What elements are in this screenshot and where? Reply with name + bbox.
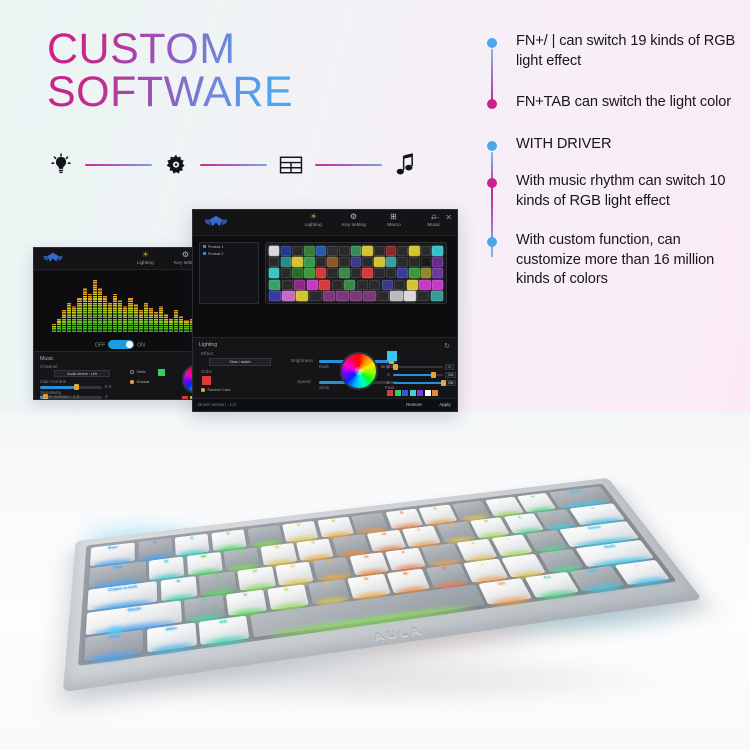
random-color-option[interactable]: Random Color xyxy=(201,388,231,392)
preview-key[interactable] xyxy=(374,257,384,267)
preview-key[interactable] xyxy=(350,291,362,301)
eq-bar xyxy=(139,310,143,332)
eq-bar xyxy=(159,306,163,332)
preview-key[interactable] xyxy=(281,257,291,267)
keycap-legend: - xyxy=(499,499,502,502)
bullet-text: FN+TAB can switch the light color xyxy=(516,94,731,110)
keycap-legend: J xyxy=(401,551,405,555)
eq-bar xyxy=(62,310,66,332)
eq-bar xyxy=(67,302,71,332)
restore-button[interactable]: Restore xyxy=(407,402,423,407)
keycap[interactable]: U xyxy=(367,530,405,552)
preview-key-row xyxy=(269,291,443,301)
eq-bar xyxy=(77,298,81,332)
keycap[interactable]: 1 xyxy=(138,538,172,560)
keycap[interactable]: L xyxy=(457,539,498,561)
driver-apply-bar: Driver version : 1.0 Restore Apply xyxy=(193,398,457,411)
music-mode-toggle-row[interactable]: OFF ON xyxy=(96,340,144,349)
gain-slider[interactable] xyxy=(40,386,102,389)
rgb-slider[interactable] xyxy=(393,366,443,369)
keycap-legend: ] xyxy=(551,512,555,515)
keycap-legend: 3 xyxy=(226,532,229,536)
driver-window-titlebar: ☀ Lighting ⚙ Key setting ⊞ Macro ♫ Music… xyxy=(193,210,457,236)
driver-action-buttons[interactable]: Restore Apply xyxy=(407,402,451,407)
sensitivity-value: 3 xyxy=(105,394,108,399)
effect-label: Effect xyxy=(201,351,213,356)
keycap-legend: N xyxy=(403,572,408,576)
keycap[interactable]: H xyxy=(349,552,389,575)
preview-key[interactable] xyxy=(374,268,384,278)
keycap-legend: K xyxy=(436,546,441,550)
preview-key[interactable] xyxy=(339,257,349,267)
keycap[interactable]: P xyxy=(470,517,510,538)
keycap[interactable]: I xyxy=(402,526,441,547)
current-color-swatch[interactable] xyxy=(202,376,211,385)
keycap[interactable]: 4 xyxy=(247,525,283,546)
keycap-legend: 8 xyxy=(400,511,404,514)
keycap[interactable]: G xyxy=(313,557,352,580)
keycap[interactable]: T xyxy=(296,539,334,561)
color-swatch[interactable] xyxy=(417,390,423,396)
bullet-dot-blue xyxy=(487,38,497,48)
keycap[interactable]: X xyxy=(226,590,267,616)
keycap-legend: D xyxy=(253,570,258,574)
keycap-legend: Tab xyxy=(113,565,123,570)
preview-key[interactable] xyxy=(409,246,419,256)
eq-bar xyxy=(113,294,117,332)
preview-key[interactable] xyxy=(421,268,431,278)
keycap[interactable]: V xyxy=(308,579,350,604)
keycap[interactable]: B xyxy=(348,574,391,599)
preview-key[interactable] xyxy=(309,291,321,301)
preview-key[interactable] xyxy=(421,257,431,267)
preview-key[interactable] xyxy=(332,280,343,290)
keycap-legend: L xyxy=(471,542,476,546)
keycap[interactable]: Ctrl xyxy=(570,566,625,591)
keycap-rgb-halo xyxy=(87,650,139,664)
preview-key[interactable] xyxy=(281,268,291,278)
keycap-legend: W xyxy=(201,555,207,559)
radio-gradual[interactable]: Gradual xyxy=(130,380,149,384)
device-label: Product 1 xyxy=(208,245,223,249)
bullet-text: With custom function, can customize more… xyxy=(516,232,714,287)
nav-label: Lighting xyxy=(137,260,154,267)
lightbulb-icon xyxy=(46,150,76,180)
keycap-legend: 7 xyxy=(366,515,370,518)
nav-key-setting[interactable]: ⚙ Key setting xyxy=(340,212,367,227)
keycap-rgb-halo xyxy=(629,576,670,587)
preview-key[interactable] xyxy=(362,268,372,278)
nav-lighting[interactable]: ☀ Lighting xyxy=(132,250,159,265)
preview-key[interactable] xyxy=(294,280,305,290)
keycap-legend: Z xyxy=(202,599,206,603)
random-color-label: Random Color xyxy=(208,388,231,392)
gain-label: Gain Control xyxy=(40,379,66,384)
preview-key[interactable] xyxy=(419,280,430,290)
preview-key[interactable] xyxy=(344,280,355,290)
keycap-legend: 5 xyxy=(297,524,301,528)
bullet-dot-pink xyxy=(487,99,497,109)
preview-key-row xyxy=(269,257,443,267)
nav-label: Macro xyxy=(387,222,401,229)
device-icon xyxy=(203,252,206,255)
preview-key[interactable] xyxy=(316,257,326,267)
color-swatch[interactable] xyxy=(387,390,393,396)
bullet-dot-blue xyxy=(487,141,497,151)
keycap[interactable]: F xyxy=(275,562,314,586)
preview-key[interactable] xyxy=(394,280,405,290)
preview-key[interactable] xyxy=(421,246,431,256)
preview-key[interactable] xyxy=(292,268,302,278)
music-version-label: Driver version : 1.0 xyxy=(40,394,79,399)
preview-key[interactable] xyxy=(386,257,396,267)
keycap[interactable]: S xyxy=(199,571,237,595)
eq-bar xyxy=(83,288,87,332)
preview-key[interactable] xyxy=(269,280,280,290)
music-note-icon xyxy=(391,150,421,180)
preview-key[interactable] xyxy=(327,257,337,267)
nav-macro[interactable]: ⊞ Macro xyxy=(380,212,407,227)
keycap-legend: O xyxy=(450,524,455,528)
keycap-legend: F xyxy=(291,565,295,569)
preview-key[interactable] xyxy=(319,280,330,290)
rgb-channel-label: R xyxy=(387,365,391,369)
keycap-legend: A xyxy=(176,579,180,583)
radio-static[interactable]: Static xyxy=(130,370,146,374)
speed-label: Speed xyxy=(297,379,311,384)
effect-select[interactable]: Stars / switch xyxy=(209,358,271,366)
eq-bar xyxy=(108,302,112,332)
preview-key[interactable] xyxy=(269,268,279,278)
eq-bar xyxy=(88,294,92,332)
preview-key[interactable] xyxy=(269,291,281,301)
keycap[interactable]: Win xyxy=(147,623,197,653)
keyboard-side-light xyxy=(108,626,122,635)
keycap[interactable]: Fn xyxy=(525,572,579,598)
device-item[interactable]: Product 1 xyxy=(200,243,258,250)
keyboard-product-photo: Esc1234567890-=BackTabQWERTYUIOP[]\Caps … xyxy=(62,430,687,705)
keycap[interactable]: A xyxy=(160,576,197,601)
eq-bar xyxy=(72,306,76,332)
gain-value: 5.0 xyxy=(105,384,112,389)
keycap-legend: Shift xyxy=(128,607,141,613)
preview-key[interactable] xyxy=(409,268,419,278)
bullet-text: FN+/ | can switch 19 kinds of RGB light … xyxy=(516,33,735,69)
keycap-legend: Shift xyxy=(603,545,616,550)
preview-key[interactable] xyxy=(362,246,372,256)
eq-bar xyxy=(52,324,56,332)
keycap-rgb-halo xyxy=(583,583,624,594)
key-setting-icon: ⚙ xyxy=(350,212,357,221)
driver-window-controls[interactable]: — ✕ xyxy=(431,214,452,222)
keycap[interactable]: Alt xyxy=(479,578,533,604)
preview-key[interactable] xyxy=(304,268,314,278)
channel-select[interactable]: Audio device : Left xyxy=(54,370,110,377)
connector-line-1 xyxy=(85,164,152,166)
keycap[interactable]: 7 xyxy=(351,513,388,533)
nav-lighting[interactable]: ☀ Lighting xyxy=(300,212,327,227)
lighting-icon: ☀ xyxy=(310,212,317,221)
keycap[interactable]: 6 xyxy=(317,517,354,538)
keycap-legend: I xyxy=(417,528,420,531)
preview-key-row xyxy=(269,246,443,256)
preview-key[interactable] xyxy=(351,246,361,256)
preview-key[interactable] xyxy=(281,246,291,256)
keycap-rgb-halo xyxy=(537,589,578,600)
keycap-legend: T xyxy=(311,541,315,545)
bullet-dot-blue xyxy=(487,237,497,247)
keycap-legend: Enter xyxy=(588,526,603,531)
preview-key[interactable] xyxy=(432,280,443,290)
color-swatch[interactable] xyxy=(425,390,431,396)
preview-key[interactable] xyxy=(390,291,402,301)
keycap[interactable]: 2 xyxy=(175,534,210,556)
keycap-legend: E xyxy=(239,550,243,554)
preview-key[interactable] xyxy=(282,291,294,301)
rgb-slider[interactable] xyxy=(393,374,443,377)
brightness-label: Brightness xyxy=(291,358,313,363)
driver-version-label: Driver version : 1.0 xyxy=(198,402,236,407)
preview-key[interactable] xyxy=(374,246,384,256)
keycap-legend: Alt xyxy=(219,620,227,625)
keycap-legend: / xyxy=(555,552,559,556)
panel-title: Music xyxy=(40,355,54,362)
rgb-slider[interactable] xyxy=(393,382,443,385)
preview-key[interactable] xyxy=(407,280,418,290)
preview-key[interactable] xyxy=(304,246,314,256)
preview-key[interactable] xyxy=(369,280,380,290)
toggle-on-label: ON xyxy=(137,341,145,348)
color-swatch[interactable] xyxy=(395,390,401,396)
eq-bar xyxy=(169,318,173,332)
preview-key[interactable] xyxy=(336,291,348,301)
close-icon[interactable]: ✕ xyxy=(445,214,452,222)
keycap-legend: V xyxy=(324,583,329,587)
keycap-legend: U xyxy=(382,533,387,537)
rgb-slider-row[interactable]: G204 xyxy=(387,372,456,378)
rgb-channel-label: B xyxy=(387,381,391,385)
keycap-legend: B xyxy=(364,577,369,581)
keycap[interactable]: 8 xyxy=(385,509,423,529)
preview-key[interactable] xyxy=(431,291,443,301)
brightness-min-label: Dark xyxy=(319,364,329,369)
apply-button[interactable]: Apply xyxy=(440,402,451,407)
keycap-legend: H xyxy=(364,555,369,559)
keycap-legend: Ctrl xyxy=(587,569,598,574)
preview-key[interactable] xyxy=(386,268,396,278)
preview-key[interactable] xyxy=(409,257,419,267)
keycap-legend: Alt xyxy=(497,582,506,587)
keycap[interactable]: . xyxy=(501,554,546,577)
keycap[interactable]: Y xyxy=(332,534,370,556)
rgb-value-field[interactable]: 204 xyxy=(445,372,456,378)
preview-key[interactable] xyxy=(269,246,279,256)
keycap[interactable]: / xyxy=(538,549,583,572)
keycap-legend: ← xyxy=(634,564,642,568)
nav-label: Key setting xyxy=(341,222,365,229)
nav-label: Music xyxy=(427,222,440,229)
bullet-text: With music rhythm can switch 10 kinds of… xyxy=(516,173,725,209)
keycap[interactable]: 3 xyxy=(211,529,246,550)
keycap-legend: 2 xyxy=(190,537,193,541)
keycap-legend: X xyxy=(243,593,247,597)
keycap-legend: R xyxy=(275,546,280,550)
radio-label: Gradual xyxy=(137,380,150,384)
preview-key[interactable] xyxy=(397,268,407,278)
keyboard-layout-preview[interactable] xyxy=(265,242,447,304)
lighting-icon: ☀ xyxy=(142,250,149,259)
keycap-legend: ; xyxy=(507,537,511,541)
keycap-legend: C xyxy=(284,588,289,592)
keycap[interactable]: D xyxy=(238,566,276,590)
keycap[interactable]: 0 xyxy=(452,501,490,521)
keycap[interactable]: , xyxy=(464,559,508,583)
keycap-legend: G xyxy=(327,560,332,564)
preview-key[interactable] xyxy=(404,291,416,301)
eq-bar xyxy=(174,310,178,332)
music-color-preview[interactable] xyxy=(158,369,165,376)
keycap[interactable]: W xyxy=(186,552,222,575)
color-swatch[interactable] xyxy=(182,396,188,400)
preview-key-row xyxy=(269,280,443,290)
radio-label: Static xyxy=(137,370,146,374)
keyboard-body: Esc1234567890-=BackTabQWERTYUIOP[]\Caps … xyxy=(62,430,687,705)
keycap-legend: 4 xyxy=(262,528,266,532)
keycap[interactable]: M xyxy=(426,564,470,588)
music-toggle-switch[interactable] xyxy=(108,340,134,349)
device-icon xyxy=(203,245,206,248)
preview-key[interactable] xyxy=(386,246,396,256)
connector-line-2 xyxy=(200,164,267,166)
keycap[interactable]: 5 xyxy=(282,521,318,542)
eq-bar xyxy=(93,280,97,332)
preview-key[interactable] xyxy=(304,257,314,267)
keycap[interactable]: Q xyxy=(149,557,184,580)
preview-key[interactable] xyxy=(363,291,375,301)
preview-key[interactable] xyxy=(417,291,429,301)
rgb-slider-row[interactable]: B255 xyxy=(387,380,456,386)
eq-bar xyxy=(179,316,183,332)
preview-key[interactable] xyxy=(327,246,337,256)
refresh-icon[interactable]: ↻ xyxy=(444,342,450,350)
preview-key[interactable] xyxy=(316,268,326,278)
bullet-dot-pink xyxy=(487,178,497,188)
keycap[interactable]: N xyxy=(387,569,430,593)
color-swatch[interactable] xyxy=(410,390,416,396)
preview-key[interactable] xyxy=(292,246,302,256)
rgb-slider-row[interactable]: R0 xyxy=(387,364,454,370)
preview-key[interactable] xyxy=(351,257,361,267)
preview-key[interactable] xyxy=(382,280,393,290)
keycap[interactable]: O xyxy=(436,521,475,542)
preview-key[interactable] xyxy=(339,268,349,278)
color-swatch[interactable] xyxy=(402,390,408,396)
channel-label: Channel xyxy=(40,364,57,369)
keycap[interactable]: C xyxy=(267,584,309,610)
macro-icon: ⊞ xyxy=(390,212,397,221)
driver-window-nav[interactable]: ☀ Lighting ⚙ Key setting ⊞ Macro ♫ Music xyxy=(300,212,447,227)
rgb-value-field[interactable]: 0 xyxy=(445,364,454,370)
preview-key[interactable] xyxy=(307,280,318,290)
preview-key[interactable] xyxy=(327,268,337,278)
bullet-item-2: FN+TAB can switch the light color xyxy=(487,93,737,113)
preview-key[interactable] xyxy=(269,257,279,267)
keycap[interactable]: J xyxy=(386,548,426,571)
preview-key[interactable] xyxy=(351,268,361,278)
driver-software-window[interactable]: ☀ Lighting ⚙ Key setting ⊞ Macro ♫ Music… xyxy=(192,209,458,412)
keycap[interactable]: ← xyxy=(615,560,670,585)
preview-key[interactable] xyxy=(339,246,349,256)
preview-key[interactable] xyxy=(432,268,442,278)
key-setting-icon: ⚙ xyxy=(182,250,189,259)
keycap[interactable]: Z xyxy=(184,595,225,621)
preview-key[interactable] xyxy=(292,257,302,267)
color-swatch[interactable] xyxy=(432,390,438,396)
bullet-item-5: With custom function, can customize more… xyxy=(487,231,737,290)
preview-key[interactable] xyxy=(282,280,293,290)
keycap-legend: Y xyxy=(347,537,352,541)
eq-bar xyxy=(98,288,102,332)
preview-key[interactable] xyxy=(357,280,368,290)
audio-spectrum-visualizer xyxy=(52,280,214,332)
preview-key[interactable] xyxy=(377,291,389,301)
eq-bar xyxy=(134,304,138,332)
eq-bar xyxy=(128,298,132,332)
preview-key[interactable] xyxy=(323,291,335,301)
preview-key[interactable] xyxy=(397,246,407,256)
keycap[interactable]: 9 xyxy=(419,505,457,525)
preview-key[interactable] xyxy=(296,291,308,301)
keycap-legend: Win xyxy=(166,627,177,633)
keycap[interactable]: [ xyxy=(504,513,544,533)
keycap[interactable]: - xyxy=(485,497,524,516)
preview-key[interactable] xyxy=(432,257,442,267)
toggle-knob xyxy=(126,341,133,348)
driver-color-preview[interactable] xyxy=(387,351,397,361)
keycap[interactable]: Alt xyxy=(199,616,250,645)
preview-key[interactable] xyxy=(432,246,442,256)
keycap[interactable]: E xyxy=(224,547,261,570)
feature-bullet-list: FN+/ | can switch 19 kinds of RGB light … xyxy=(487,32,737,290)
keycap-legend: P xyxy=(484,520,489,524)
eq-bar xyxy=(184,320,188,332)
minimize-icon[interactable]: — xyxy=(431,214,439,222)
keycap[interactable]: K xyxy=(421,543,462,565)
gear-icon xyxy=(161,150,191,180)
keycap[interactable]: ; xyxy=(491,534,532,556)
keycap-legend: . xyxy=(518,557,521,561)
keycap-legend: Esc xyxy=(108,546,118,551)
keycap[interactable]: R xyxy=(260,543,297,565)
rgb-value-field[interactable]: 255 xyxy=(445,380,456,386)
preview-key[interactable] xyxy=(316,246,326,256)
device-item[interactable]: Product 2 xyxy=(200,250,258,257)
lighting-settings-panel: Lighting ↻ Effect Stars / switch Color R… xyxy=(193,337,457,411)
keycap-rgb-halo xyxy=(150,642,194,655)
driver-color-wheel[interactable] xyxy=(340,352,378,390)
page-title: CUSTOM SOFTWARE xyxy=(47,28,293,114)
aula-logo-icon xyxy=(202,215,230,230)
preview-key[interactable] xyxy=(362,257,372,267)
keycap-legend: Q xyxy=(164,560,168,564)
keycap-legend: = xyxy=(531,495,536,498)
device-tree-panel[interactable]: Product 1 Product 2 xyxy=(199,242,259,304)
preview-key[interactable] xyxy=(397,257,407,267)
feature-icon-strip xyxy=(46,148,421,182)
driver-swatch-row[interactable] xyxy=(387,390,438,396)
keycap-legend: [ xyxy=(518,516,521,519)
keycap-legend: Ctrl xyxy=(109,634,120,640)
